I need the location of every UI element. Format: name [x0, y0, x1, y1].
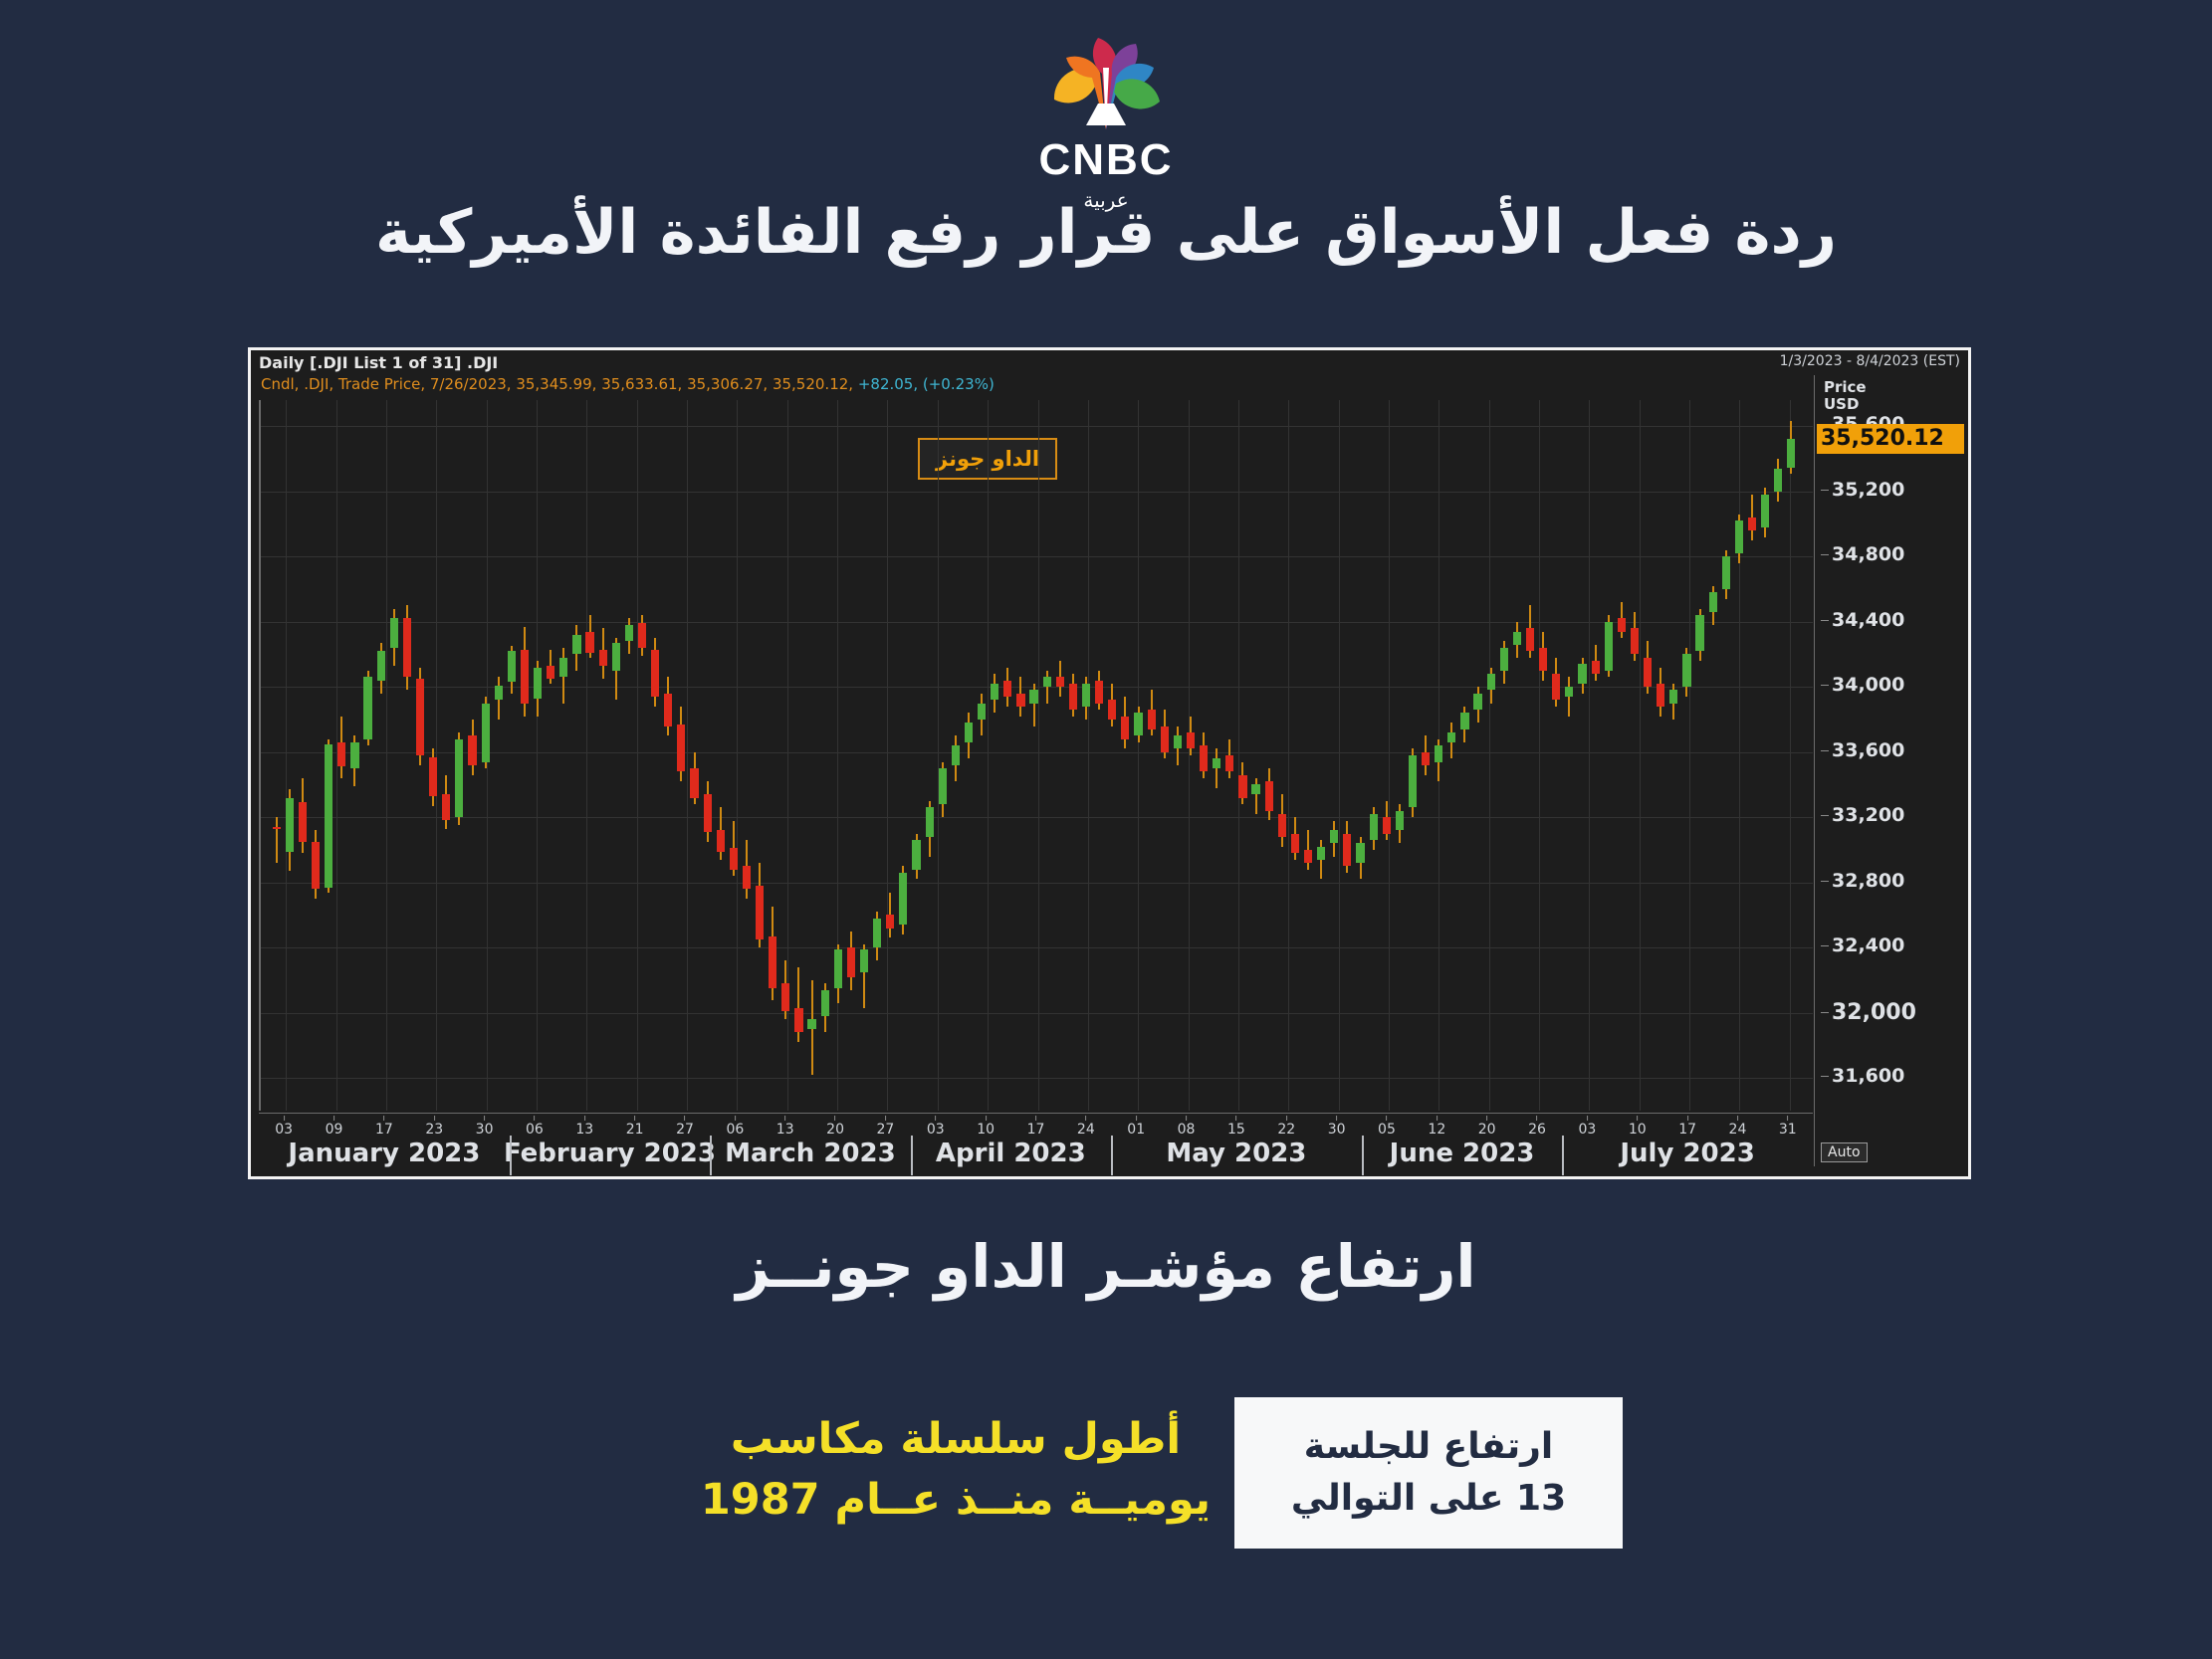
candlestick: [690, 400, 698, 1111]
candlestick: [651, 400, 659, 1111]
candlestick: [1435, 400, 1442, 1111]
candlestick: [638, 400, 646, 1111]
candlestick: [965, 400, 973, 1111]
grid-line-vertical: [1640, 400, 1641, 1111]
candlestick: [664, 400, 672, 1111]
candlestick: [1043, 400, 1051, 1111]
candle-body: [455, 739, 463, 818]
candle-body: [363, 677, 371, 738]
chart-title: Daily [.DJI List 1 of 31] .DJI 1/3/2023 …: [251, 350, 1968, 374]
candlestick: [337, 400, 345, 1111]
candle-body: [612, 643, 620, 671]
candlestick: [769, 400, 776, 1111]
candle-body: [1251, 784, 1259, 794]
candle-body: [1330, 830, 1338, 843]
card-line-2: 13 على التوالي: [1291, 1473, 1566, 1525]
candlestick: [1552, 400, 1560, 1111]
axis-title-usd: USD: [1824, 395, 1859, 413]
candle-body: [1304, 850, 1312, 863]
candlestick: [926, 400, 934, 1111]
candlestick: [756, 400, 764, 1111]
candle-body: [1108, 700, 1116, 720]
candle-body: [1016, 694, 1024, 707]
candlestick: [1473, 400, 1481, 1111]
candlestick: [286, 400, 294, 1111]
candlestick: [834, 400, 842, 1111]
candlestick: [677, 400, 685, 1111]
candlestick: [1682, 400, 1690, 1111]
candle-body: [1213, 758, 1220, 768]
candlestick: [1278, 400, 1286, 1111]
candlestick: [1238, 400, 1246, 1111]
candlestick: [482, 400, 490, 1111]
date-axis-day-tick: 03: [1578, 1116, 1596, 1138]
candlestick: [1213, 400, 1220, 1111]
candlestick: [363, 400, 371, 1111]
date-axis-month-label: February 2023: [504, 1139, 716, 1168]
auto-scale-button[interactable]: Auto: [1821, 1142, 1868, 1162]
month-separator: [710, 1136, 712, 1175]
candlestick: [1657, 400, 1664, 1111]
candle-body: [1435, 745, 1442, 761]
candlestick: [299, 400, 307, 1111]
candlestick: [599, 400, 607, 1111]
candle-body: [377, 651, 385, 680]
candlestick: [1108, 400, 1116, 1111]
date-axis-day-tick: 27: [676, 1116, 694, 1138]
candlestick: [1304, 400, 1312, 1111]
candlestick: [1669, 400, 1677, 1111]
candlestick: [1722, 400, 1730, 1111]
candlestick: [495, 400, 503, 1111]
price-axis-tick: 33,200: [1821, 804, 1904, 826]
candlestick: [468, 400, 476, 1111]
candle-body: [1174, 735, 1182, 748]
candle-body: [847, 947, 855, 976]
candlestick: [350, 400, 358, 1111]
date-axis-day-tick: 21: [626, 1116, 644, 1138]
infographic-page: CNBC عربية ردة فعل الأسواق على قرار رفع …: [0, 0, 2212, 1659]
candlestick: [1695, 400, 1703, 1111]
candlestick: [1460, 400, 1468, 1111]
candlestick: [416, 400, 424, 1111]
candle-body: [1735, 520, 1743, 553]
axis-title-price: Price: [1824, 378, 1867, 396]
date-axis-month-label: July 2023: [1620, 1139, 1754, 1168]
candle-body: [1200, 745, 1208, 771]
date-axis-day-tick: 03: [927, 1116, 945, 1138]
candle-body: [1148, 710, 1156, 729]
candle-wick: [1568, 677, 1570, 716]
candle-body: [482, 704, 490, 762]
candlestick: [1487, 400, 1495, 1111]
candle-body: [1134, 713, 1142, 735]
candle-body: [299, 802, 307, 841]
candlestick: [625, 400, 633, 1111]
candle-body: [1238, 775, 1246, 798]
date-axis-day-tick: 23: [425, 1116, 443, 1138]
candle-body: [286, 798, 294, 852]
candle-body: [1409, 755, 1417, 807]
price-axis-tick: 31,600: [1821, 1065, 1904, 1087]
candlestick: [1251, 400, 1259, 1111]
candlestick: [730, 400, 738, 1111]
candlestick: [1148, 400, 1156, 1111]
candle-wick: [276, 817, 278, 863]
price-axis-tick: 32,400: [1821, 934, 1904, 956]
candle-body: [1774, 469, 1782, 492]
price-axis-tick: 33,600: [1821, 739, 1904, 761]
candlestick: [442, 400, 450, 1111]
candlestick: [807, 400, 815, 1111]
date-axis-day-tick: 20: [826, 1116, 844, 1138]
candlestick: [1565, 400, 1573, 1111]
candle-body: [1748, 518, 1756, 530]
date-axis-month-label: May 2023: [1166, 1139, 1306, 1168]
candlestick: [939, 400, 947, 1111]
candle-body: [1473, 694, 1481, 710]
candlestick: [1370, 400, 1378, 1111]
candle-body: [1069, 684, 1077, 710]
candle-body: [599, 650, 607, 666]
candlestick: [1029, 400, 1037, 1111]
candlestick: [521, 400, 529, 1111]
candle-body: [403, 618, 411, 677]
candlestick: [273, 400, 281, 1111]
candle-body: [1787, 439, 1795, 467]
candlestick: [377, 400, 385, 1111]
date-axis-day-tick: 17: [1027, 1116, 1045, 1138]
date-axis-day-tick: 17: [1678, 1116, 1696, 1138]
chart-date-range: 1/3/2023 - 8/4/2023 (EST): [1780, 353, 1960, 369]
grid-line-vertical: [386, 400, 387, 1111]
candlestick: [403, 400, 411, 1111]
candlestick: [1383, 400, 1391, 1111]
candle-body: [350, 742, 358, 768]
highlight-white-card: ارتفاع للجلسة 13 على التوالي: [1234, 1397, 1623, 1549]
candle-body: [429, 757, 437, 796]
date-axis[interactable]: 0309172330January 202306132127February 2…: [259, 1113, 1813, 1176]
grid-line-vertical: [1288, 400, 1289, 1111]
date-axis-day-tick: 05: [1378, 1116, 1396, 1138]
candle-body: [1631, 628, 1639, 654]
candlestick: [585, 400, 593, 1111]
candle-body: [1370, 814, 1378, 840]
candle-body: [1644, 658, 1652, 687]
candle-body: [873, 919, 881, 947]
candlestick: [1644, 400, 1652, 1111]
candle-body: [1552, 674, 1560, 700]
candlestick: [1748, 400, 1756, 1111]
candle-body: [834, 949, 842, 988]
candle-body: [1460, 713, 1468, 728]
candlestick: [455, 400, 463, 1111]
candle-body: [1513, 632, 1521, 645]
date-axis-day-tick: 15: [1227, 1116, 1245, 1138]
candlestick: [847, 400, 855, 1111]
candle-body: [794, 1008, 802, 1033]
candle-body: [1526, 628, 1534, 651]
candle-body: [337, 742, 345, 767]
candlestick: [704, 400, 712, 1111]
candlestick: [1161, 400, 1169, 1111]
date-axis-day-tick: 22: [1277, 1116, 1295, 1138]
date-axis-day-tick: 30: [1328, 1116, 1346, 1138]
date-axis-day-tick: 24: [1077, 1116, 1095, 1138]
month-separator: [1562, 1136, 1564, 1175]
date-axis-day-tick: 31: [1779, 1116, 1797, 1138]
candlestick: [1016, 400, 1024, 1111]
candlestick: [978, 400, 986, 1111]
candlestick: [1134, 400, 1142, 1111]
candle-body: [1029, 690, 1037, 703]
candle-body: [1317, 847, 1325, 860]
candlestick: [572, 400, 580, 1111]
candle-body: [651, 650, 659, 697]
candlestick: [429, 400, 437, 1111]
candle-body: [1657, 684, 1664, 707]
candlestick: [1095, 400, 1103, 1111]
candle-body: [638, 623, 646, 648]
grid-line-vertical: [988, 400, 989, 1111]
candle-body: [965, 723, 973, 742]
candlestick: [1787, 400, 1795, 1111]
date-axis-day-tick: 10: [977, 1116, 995, 1138]
chart-title-text: Daily [.DJI List 1 of 31] .DJI: [259, 353, 498, 372]
candle-body: [1291, 834, 1299, 854]
candlestick: [1605, 400, 1613, 1111]
chart-plot-area[interactable]: الداو جونز: [259, 400, 1813, 1111]
month-separator: [1362, 1136, 1364, 1175]
cnbc-logo-block: CNBC عربية: [0, 30, 2212, 212]
candle-body: [1095, 681, 1103, 704]
date-axis-day-tick: 10: [1629, 1116, 1647, 1138]
date-axis-day-tick: 06: [726, 1116, 744, 1138]
candlestick: [912, 400, 920, 1111]
yellow-line-1: أطول سلسلة مكاسب: [697, 1409, 1215, 1470]
date-axis-day-tick: 03: [275, 1116, 293, 1138]
candle-body: [534, 668, 542, 699]
chart-legend-quote: Cndl, .DJI, Trade Price, 7/26/2023, 35,3…: [261, 375, 853, 393]
month-separator: [510, 1136, 512, 1175]
candlestick: [1082, 400, 1090, 1111]
candle-body: [912, 840, 920, 869]
candle-body: [821, 990, 829, 1016]
date-axis-day-tick: 13: [776, 1116, 794, 1138]
candle-body: [1565, 687, 1573, 697]
candle-body: [468, 735, 476, 764]
candle-body: [1161, 726, 1169, 752]
candlestick: [1409, 400, 1417, 1111]
grid-line-vertical: [1589, 400, 1590, 1111]
candle-body: [325, 744, 332, 888]
highlight-yellow-text: أطول سلسلة مكاسب يوميــة منــذ عــام 198…: [697, 1409, 1215, 1531]
candle-body: [585, 632, 593, 653]
candle-body: [390, 618, 398, 647]
candle-body: [1669, 690, 1677, 703]
candlestick: [325, 400, 332, 1111]
candle-body: [547, 666, 554, 679]
candle-body: [1618, 618, 1626, 631]
candlestick: [1317, 400, 1325, 1111]
candle-body: [704, 794, 712, 832]
candle-body: [1761, 495, 1769, 527]
candlestick: [886, 400, 894, 1111]
candle-body: [781, 983, 789, 1011]
chart-panel: Daily [.DJI List 1 of 31] .DJI 1/3/2023 …: [248, 347, 1971, 1179]
candle-body: [1003, 681, 1011, 697]
date-axis-day-tick: 08: [1178, 1116, 1196, 1138]
candle-body: [807, 1019, 815, 1029]
candlestick: [1225, 400, 1233, 1111]
candle-body: [1447, 732, 1455, 742]
candlestick: [1291, 400, 1299, 1111]
candlestick: [1774, 400, 1782, 1111]
candle-body: [1396, 811, 1404, 831]
candlestick: [1592, 400, 1600, 1111]
candle-body: [926, 807, 934, 836]
date-axis-day-tick: 24: [1729, 1116, 1747, 1138]
grid-line-vertical: [687, 400, 688, 1111]
candlestick: [1343, 400, 1351, 1111]
cnbc-peacock-logo: [1031, 30, 1181, 134]
candlestick: [743, 400, 751, 1111]
current-price-flag: 35,520.12: [1817, 424, 1964, 454]
candle-body: [521, 650, 529, 704]
candlestick: [1447, 400, 1455, 1111]
date-axis-day-tick: 30: [476, 1116, 494, 1138]
date-axis-month-label: March 2023: [725, 1139, 896, 1168]
candlestick: [1200, 400, 1208, 1111]
date-axis-day-tick: 01: [1127, 1116, 1145, 1138]
candlestick: [508, 400, 516, 1111]
candlestick: [312, 400, 320, 1111]
candle-body: [1592, 661, 1600, 674]
candle-body: [1500, 648, 1508, 671]
candle-body: [1225, 755, 1233, 771]
cnbc-wordmark: CNBC: [1038, 138, 1173, 182]
candle-body: [1043, 677, 1051, 687]
candle-body: [860, 949, 868, 972]
candlestick: [1330, 400, 1338, 1111]
candle-body: [1682, 654, 1690, 687]
candle-body: [273, 827, 281, 829]
candlestick: [1265, 400, 1273, 1111]
candlestick: [991, 400, 998, 1111]
candlestick: [1735, 400, 1743, 1111]
card-line-1: ارتفاع للجلسة: [1304, 1421, 1553, 1473]
price-axis-tick: 35,200: [1821, 479, 1904, 501]
candle-body: [1356, 843, 1364, 863]
candle-body: [508, 651, 516, 682]
grid-line-vertical: [1038, 400, 1039, 1111]
candle-body: [1709, 592, 1717, 612]
candle-body: [572, 635, 580, 655]
candlestick: [1578, 400, 1586, 1111]
candlestick: [1003, 400, 1011, 1111]
date-axis-day-tick: 20: [1478, 1116, 1496, 1138]
candle-body: [1422, 752, 1430, 765]
candle-body: [1265, 781, 1273, 810]
price-axis-tick: 32,000: [1821, 1000, 1916, 1025]
candle-body: [978, 704, 986, 720]
candlestick: [1513, 400, 1521, 1111]
price-axis-tick: 34,000: [1821, 674, 1904, 696]
month-separator: [1111, 1136, 1113, 1175]
candlestick: [1069, 400, 1077, 1111]
date-axis-day-tick: 12: [1428, 1116, 1445, 1138]
candle-body: [1578, 664, 1586, 684]
candlestick: [873, 400, 881, 1111]
candle-body: [991, 684, 998, 700]
candlestick: [1618, 400, 1626, 1111]
date-axis-month-label: January 2023: [288, 1139, 480, 1168]
candle-body: [717, 830, 725, 851]
month-separator: [911, 1136, 913, 1175]
candle-body: [1082, 684, 1090, 707]
candle-body: [939, 768, 947, 804]
price-axis-tick: 34,400: [1821, 609, 1904, 631]
candle-body: [677, 725, 685, 771]
candlestick: [1174, 400, 1182, 1111]
candle-body: [1487, 674, 1495, 690]
candlestick: [860, 400, 868, 1111]
candle-wick: [1046, 671, 1048, 704]
candle-body: [886, 915, 894, 928]
candle-wick: [1255, 778, 1257, 814]
date-axis-month-label: April 2023: [936, 1139, 1086, 1168]
candlestick: [1631, 400, 1639, 1111]
yellow-line-2: يوميــة منــذ عــام 1987: [697, 1470, 1215, 1531]
chart-legend: Cndl, .DJI, Trade Price, 7/26/2023, 35,3…: [261, 375, 995, 397]
candle-body: [664, 694, 672, 726]
candlestick: [559, 400, 567, 1111]
candlestick: [1526, 400, 1534, 1111]
candlestick: [717, 400, 725, 1111]
candle-body: [416, 679, 424, 755]
candle-body: [1121, 717, 1129, 739]
candlestick: [1187, 400, 1195, 1111]
candlestick: [1396, 400, 1404, 1111]
date-axis-day-tick: 06: [526, 1116, 544, 1138]
candle-body: [559, 658, 567, 678]
candle-body: [1539, 648, 1547, 671]
candlestick: [794, 400, 802, 1111]
date-axis-day-tick: 17: [375, 1116, 393, 1138]
candle-body: [442, 794, 450, 820]
candle-body: [952, 745, 960, 765]
candlestick: [390, 400, 398, 1111]
candle-body: [495, 686, 503, 701]
date-axis-month-label: June 2023: [1390, 1139, 1535, 1168]
date-axis-day-tick: 26: [1528, 1116, 1546, 1138]
candle-body: [743, 866, 751, 889]
candle-body: [769, 936, 776, 988]
date-axis-day-tick: 27: [877, 1116, 895, 1138]
candle-body: [1605, 622, 1613, 671]
candle-wick: [1216, 748, 1217, 787]
candle-body: [1056, 677, 1064, 687]
candlestick: [1709, 400, 1717, 1111]
candlestick: [781, 400, 789, 1111]
candlestick: [1121, 400, 1129, 1111]
price-axis-title: Price USD: [1824, 379, 1867, 414]
grid-line-vertical: [1339, 400, 1340, 1111]
candle-body: [1722, 556, 1730, 589]
candlestick: [1500, 400, 1508, 1111]
price-axis[interactable]: Price USD Auto 31,60032,00032,40032,8003…: [1814, 375, 1965, 1166]
candle-body: [756, 886, 764, 939]
